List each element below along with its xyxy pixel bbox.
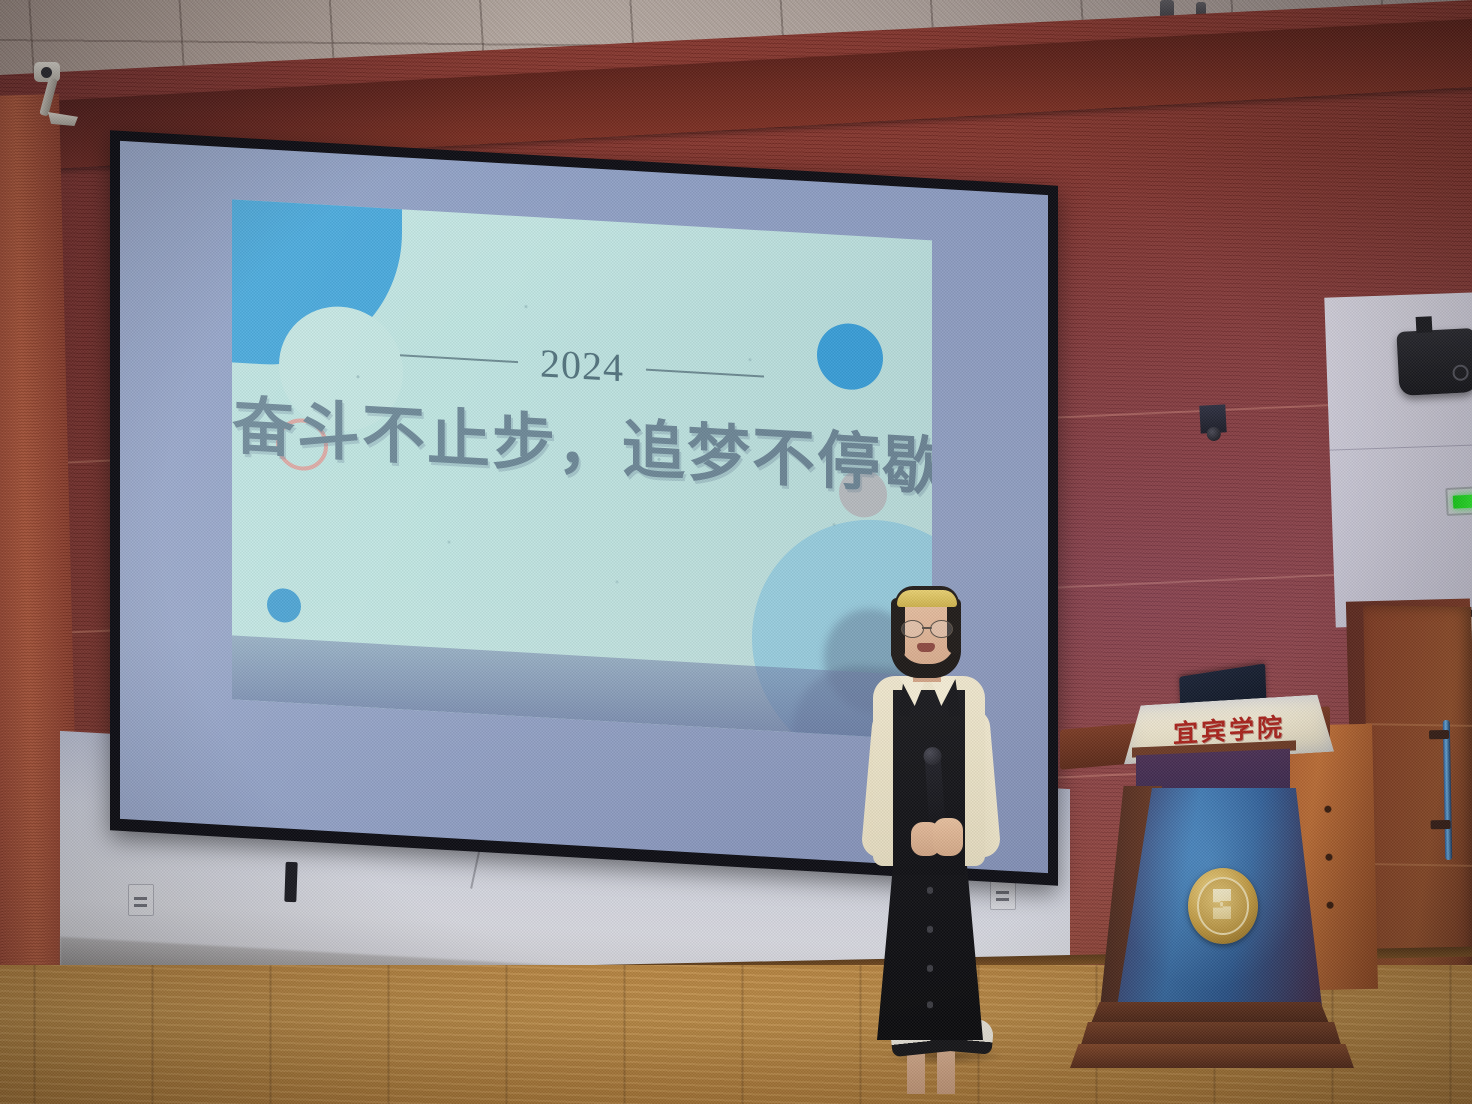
presentation-slide: 2024 奋斗不止步，追梦不停歇 [232, 199, 932, 740]
screen-pull-tab[interactable] [284, 862, 297, 902]
emergency-exit-sign [1445, 486, 1472, 516]
presenter-mouth [917, 643, 935, 652]
presenter-headband [897, 590, 957, 607]
wall-sensor-icon [1199, 404, 1226, 433]
lectern-base-tier [1070, 1044, 1354, 1068]
glasses-icon [901, 620, 953, 636]
lectern[interactable]: 宜宾学院 [1060, 660, 1380, 1100]
slide-rule-left [400, 354, 518, 363]
student-presenter [855, 580, 1045, 1080]
slide-rule-right [646, 368, 764, 377]
yibin-university-emblem-icon [1188, 868, 1258, 944]
wall-speaker-icon [1396, 328, 1472, 396]
presenter-skirt-buttons [927, 880, 933, 1010]
slide-year: 2024 [540, 339, 624, 391]
presenter-hand [933, 818, 963, 856]
security-camera-icon [30, 62, 82, 132]
power-outlet[interactable] [128, 884, 154, 916]
photo-scene: 2024 奋斗不止步，追梦不停歇 宜宾学院 [0, 0, 1472, 1104]
